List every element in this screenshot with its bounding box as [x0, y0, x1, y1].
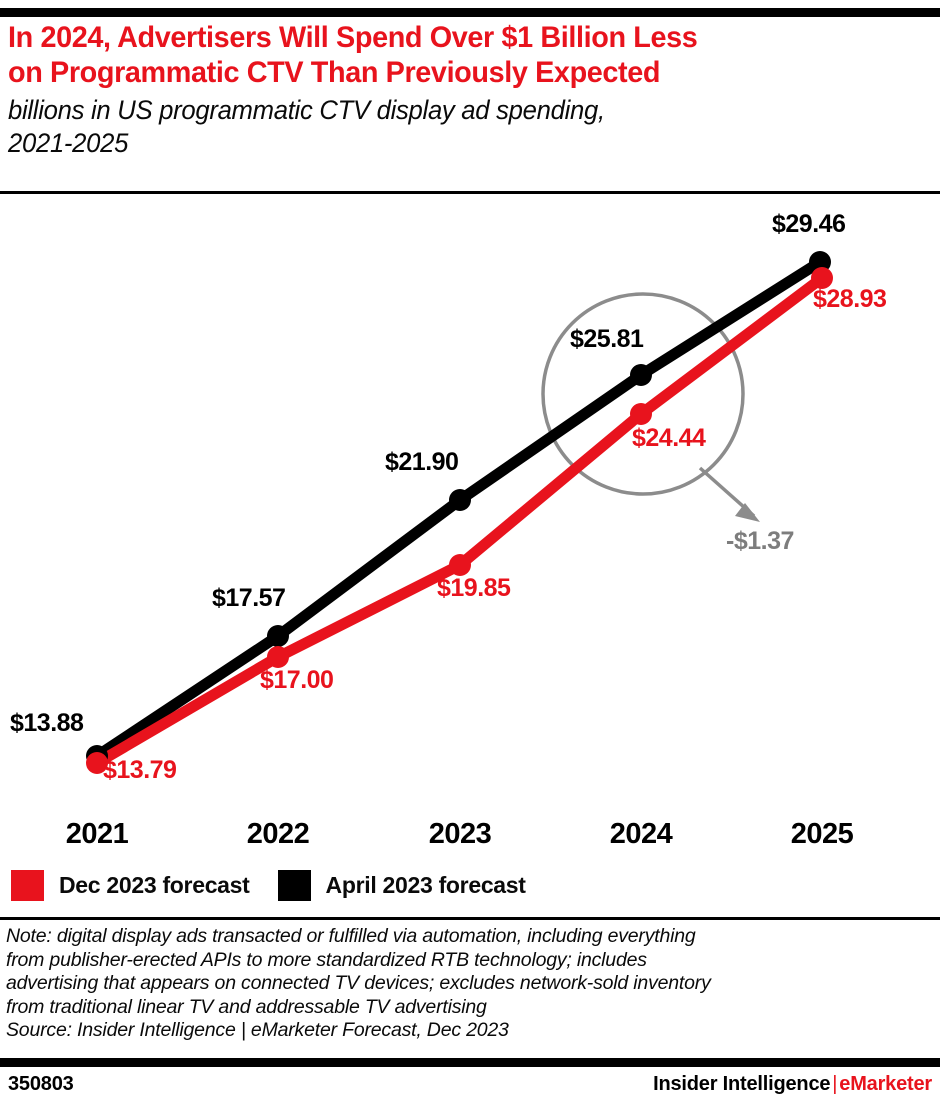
chart-note: Note: digital display ads transacted or …	[6, 925, 926, 1019]
brand-lockup: Insider Intelligence|eMarketer	[653, 1073, 932, 1096]
chart-header: In 2024, Advertisers Will Spend Over $1 …	[8, 20, 932, 160]
chart-sheet: In 2024, Advertisers Will Spend Over $1 …	[0, 0, 940, 1106]
top-rule-divider	[0, 8, 940, 17]
x-tick-2025: 2025	[791, 818, 854, 851]
chart-legend: Dec 2023 forecast April 2023 forecast	[11, 869, 526, 901]
data-label-dec-2022: $17.00	[260, 666, 333, 695]
brand-emarketer: eMarketer	[839, 1073, 932, 1095]
data-label-april-2024: $25.81	[570, 325, 643, 354]
delta-annotation-label: -$1.37	[726, 527, 794, 556]
page-title: In 2024, Advertisers Will Spend Over $1 …	[8, 20, 895, 90]
brand-separator: |	[830, 1073, 839, 1095]
x-tick-2024: 2024	[610, 818, 673, 851]
header-divider	[0, 191, 940, 194]
callout-arrow-icon	[700, 468, 760, 522]
line-chart-svg	[0, 196, 940, 816]
brand-insider-intelligence: Insider Intelligence	[653, 1073, 830, 1095]
data-label-dec-2025: $28.93	[813, 285, 886, 314]
note-divider	[0, 917, 940, 920]
data-label-april-2022: $17.57	[212, 584, 285, 613]
data-label-april-2025: $29.46	[772, 210, 845, 239]
page-subtitle: billions in US programmatic CTV display …	[8, 94, 886, 160]
x-tick-2022: 2022	[247, 818, 310, 851]
chart-id: 350803	[8, 1073, 74, 1096]
legend-swatch-black-icon	[278, 870, 311, 901]
chart-footer: 350803 Insider Intelligence|eMarketer	[0, 1071, 940, 1101]
chart-source: Source: Insider Intelligence | eMarketer…	[6, 1019, 926, 1043]
data-label-dec-2024: $24.44	[632, 424, 705, 453]
x-axis: 2021 2022 2023 2024 2025	[0, 818, 940, 858]
x-tick-2021: 2021	[66, 818, 129, 851]
data-label-april-2023: $21.90	[385, 448, 458, 477]
chart-plot-area: $13.88 $17.57 $21.90 $25.81 $29.46 $13.7…	[0, 196, 940, 816]
data-label-april-2021: $13.88	[10, 709, 83, 738]
data-label-dec-2023: $19.85	[437, 574, 510, 603]
legend-label-april-2023: April 2023 forecast	[326, 872, 526, 899]
legend-item-dec-2023[interactable]: Dec 2023 forecast	[11, 870, 250, 901]
data-label-dec-2021: $13.79	[103, 756, 176, 785]
legend-swatch-red-icon	[11, 870, 44, 901]
legend-item-april-2023[interactable]: April 2023 forecast	[278, 870, 526, 901]
footer-divider	[0, 1058, 940, 1067]
legend-label-dec-2023: Dec 2023 forecast	[59, 872, 250, 899]
x-tick-2023: 2023	[429, 818, 492, 851]
